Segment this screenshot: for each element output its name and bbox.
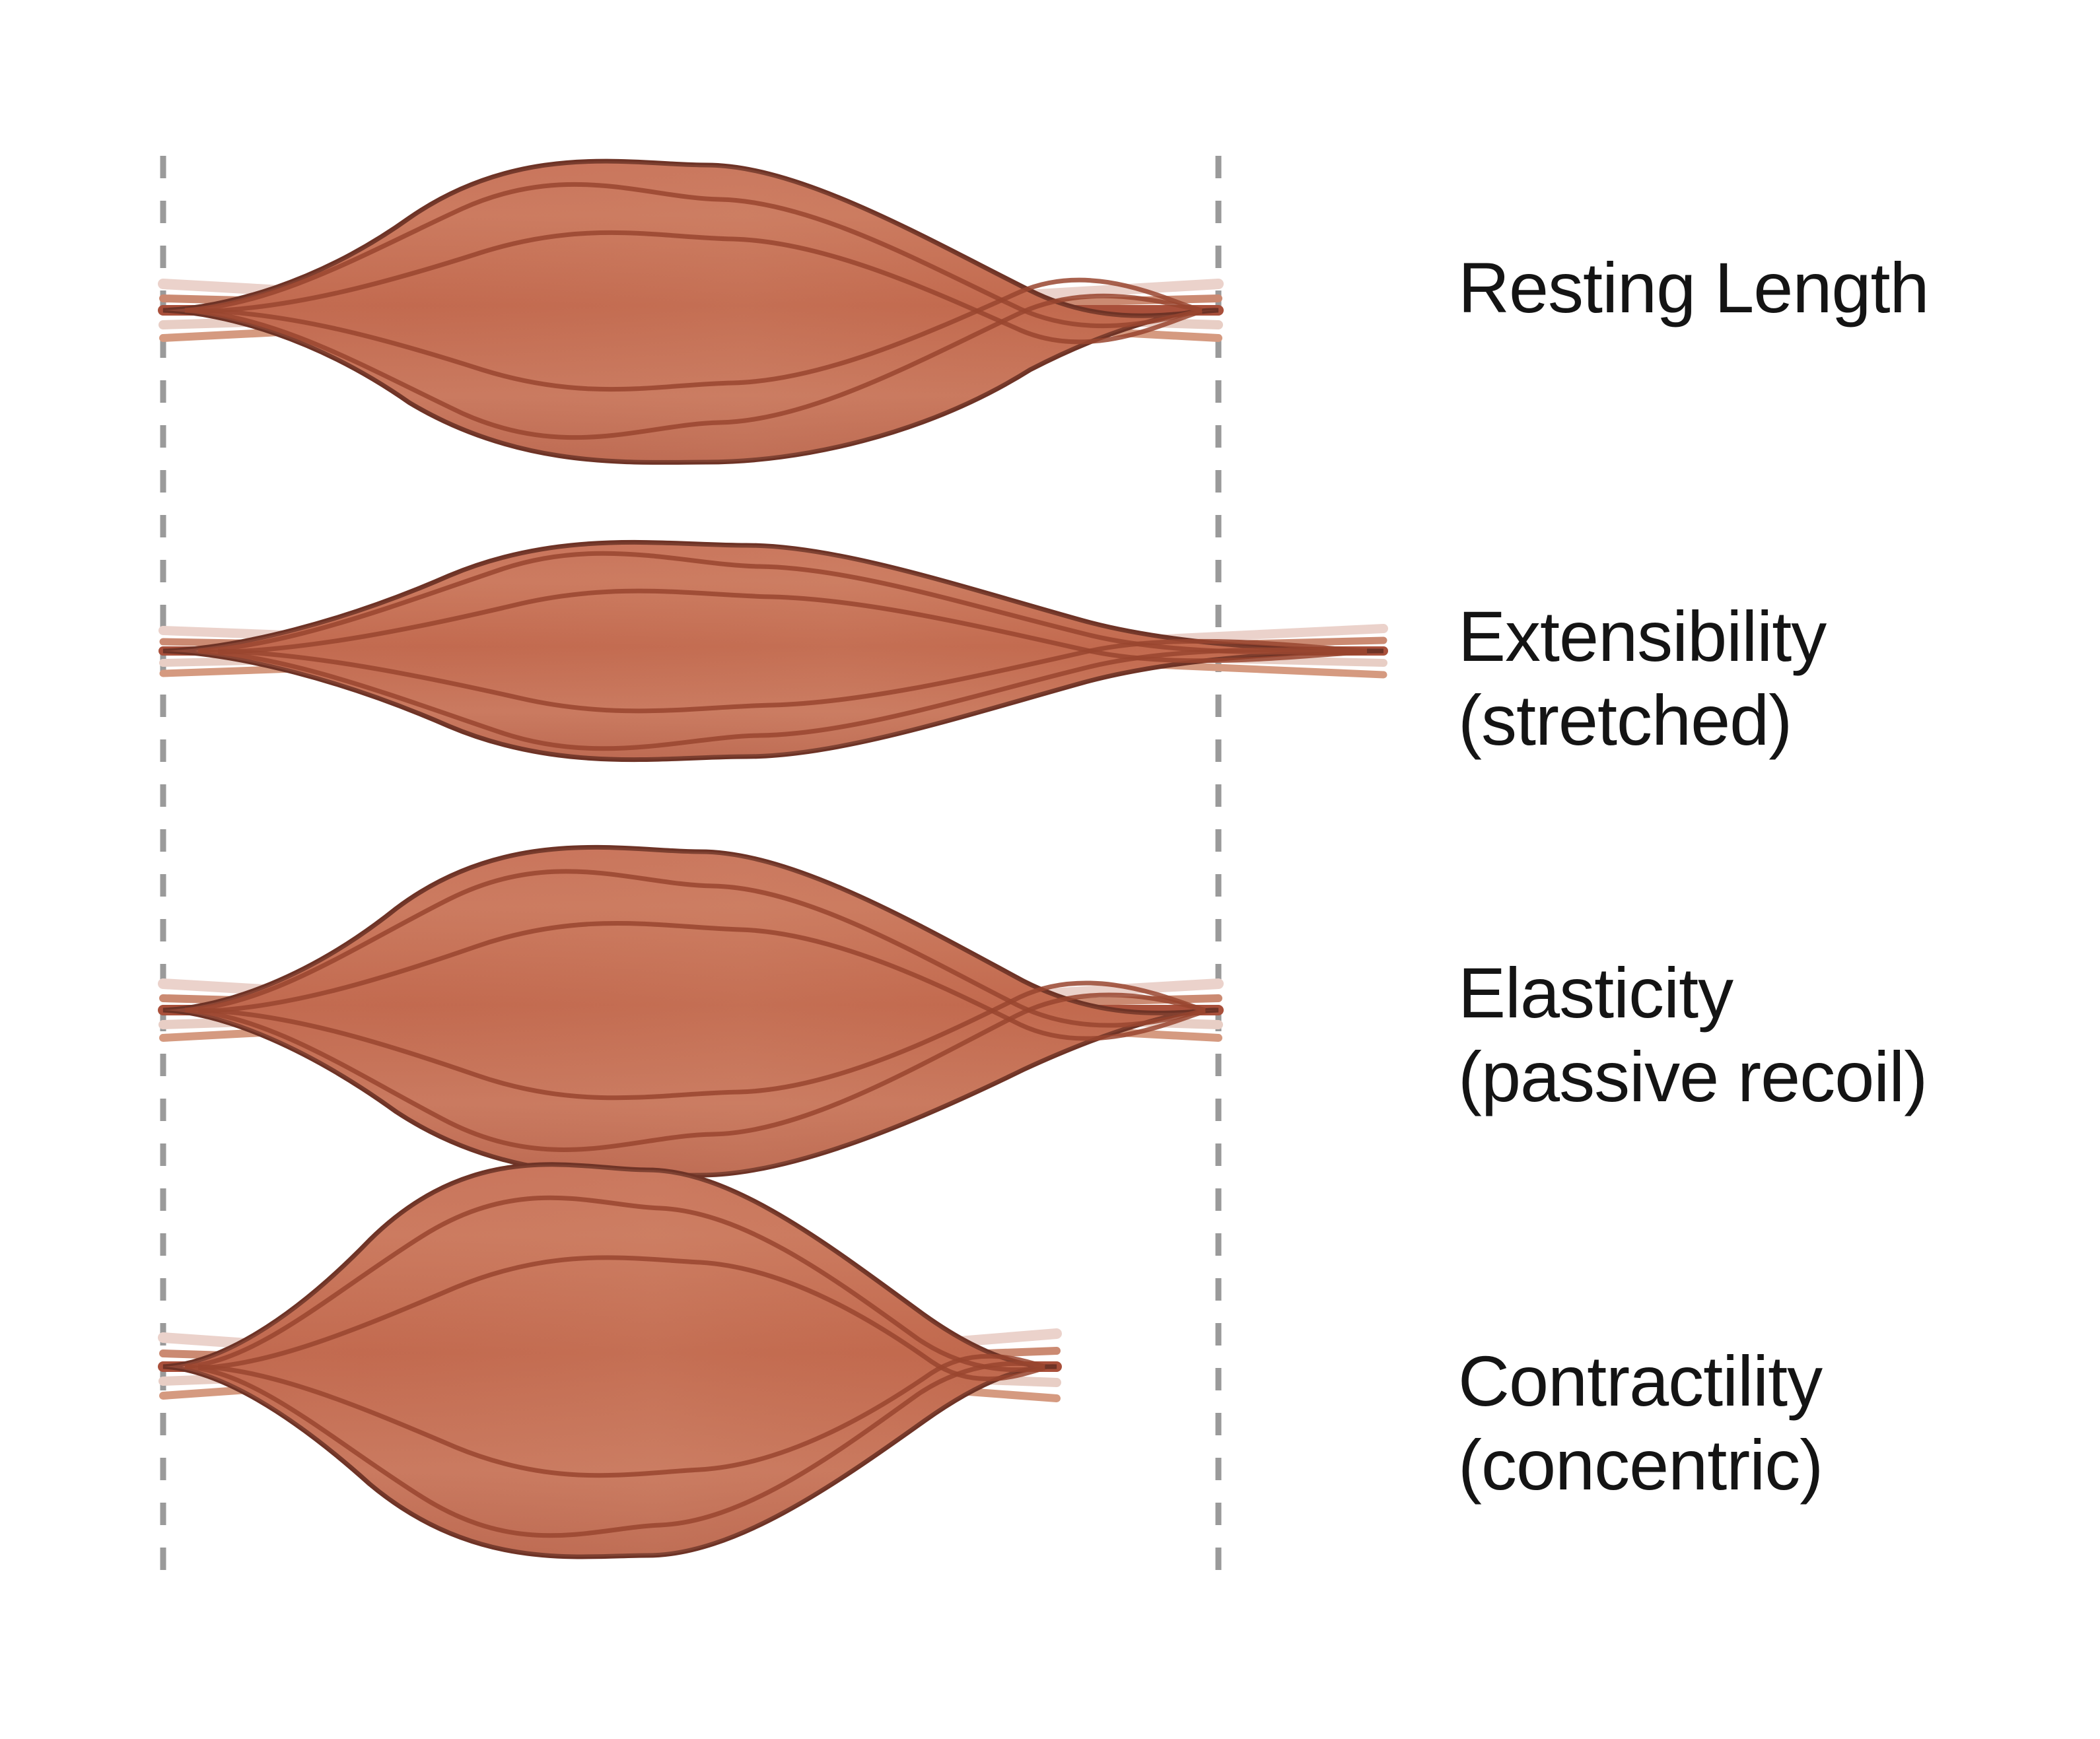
label-elasticity-line1: Elasticity — [1458, 953, 1733, 1033]
label-extensibility-line2: (stretched) — [1458, 680, 1792, 760]
label-contractility: Contractility(concentric) — [1458, 1339, 1823, 1507]
label-contractility-line2: (concentric) — [1458, 1425, 1823, 1505]
label-extensibility: Extensibility(stretched) — [1458, 594, 1826, 763]
label-contractility-line1: Contractility — [1458, 1341, 1822, 1421]
label-elasticity: Elasticity(passive recoil) — [1458, 951, 1927, 1119]
muscle-extensibility — [163, 542, 1383, 759]
label-elasticity-line2: (passive recoil) — [1458, 1037, 1927, 1116]
label-resting-length: Resting Length — [1458, 246, 1929, 329]
muscle-contractility — [163, 1165, 1057, 1557]
muscle-elasticity — [163, 847, 1218, 1175]
muscle-resting — [163, 161, 1218, 462]
label-extensibility-line1: Extensibility — [1458, 596, 1826, 676]
